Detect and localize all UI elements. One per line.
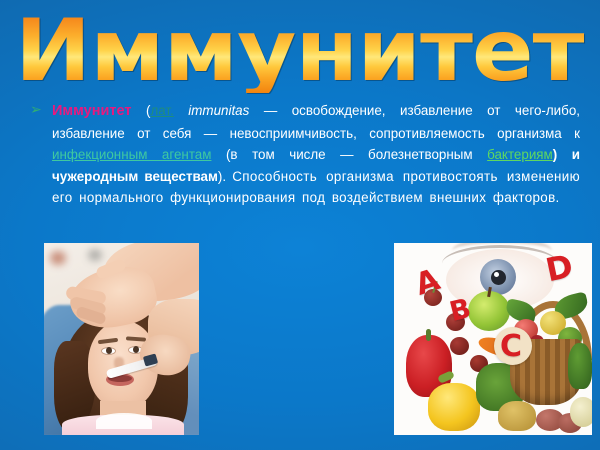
cherry-fruit (450, 337, 469, 355)
link-bacteria[interactable]: бактериям (487, 147, 553, 162)
red-pepper-stem (426, 329, 431, 341)
bread-loaf (498, 401, 536, 431)
presentation-slide: Иммунитет ➢ Иммунитет (лат. immunitas — … (0, 0, 600, 450)
link-infectious-agents[interactable]: инфекционным агентам (52, 147, 211, 162)
background-blur-dot (88, 249, 102, 261)
child-shirt-collar (96, 413, 152, 429)
link-latin[interactable]: лат. (150, 103, 173, 118)
sick-child-thermometer-photo: Больной ребёнок с градусником, рука на л… (44, 243, 199, 435)
vitamin-letter-c: C (500, 329, 522, 364)
bullet-list-item: ➢ Иммунитет (лат. immunitas — освобожден… (28, 100, 580, 209)
page-title: Иммунитет (15, 11, 585, 93)
child-pupil-left (106, 347, 112, 354)
arrow-bullet-icon: ➢ (28, 100, 52, 122)
onion (570, 397, 592, 427)
left-photo-canvas (44, 243, 199, 435)
broccoli (568, 343, 592, 389)
vitamins-food-collage-photo: A B C D Витамины: продукты и глаз (394, 243, 592, 435)
term-immunity: Иммунитет (52, 103, 132, 119)
human-eyelashes (442, 245, 558, 282)
definition-paragraph: Иммунитет (лат. immunitas — освобождение… (52, 100, 580, 209)
em-dash-1: — (249, 103, 291, 118)
child-pupil-right (133, 346, 139, 353)
background-blur-dot (50, 251, 66, 265)
slide-body-text: ➢ Иммунитет (лат. immunitas — освобожден… (28, 100, 580, 209)
open-paren: ( (132, 103, 151, 118)
slide-title-container: Иммунитет (0, 6, 600, 98)
close-paren-2: ). (218, 169, 232, 184)
definition-text-2: (в том числе — болезнетворным (211, 147, 487, 162)
latin-word: immunitas (174, 103, 250, 118)
right-photo-canvas: A B C D (394, 243, 592, 435)
yellow-bell-pepper (428, 383, 480, 431)
